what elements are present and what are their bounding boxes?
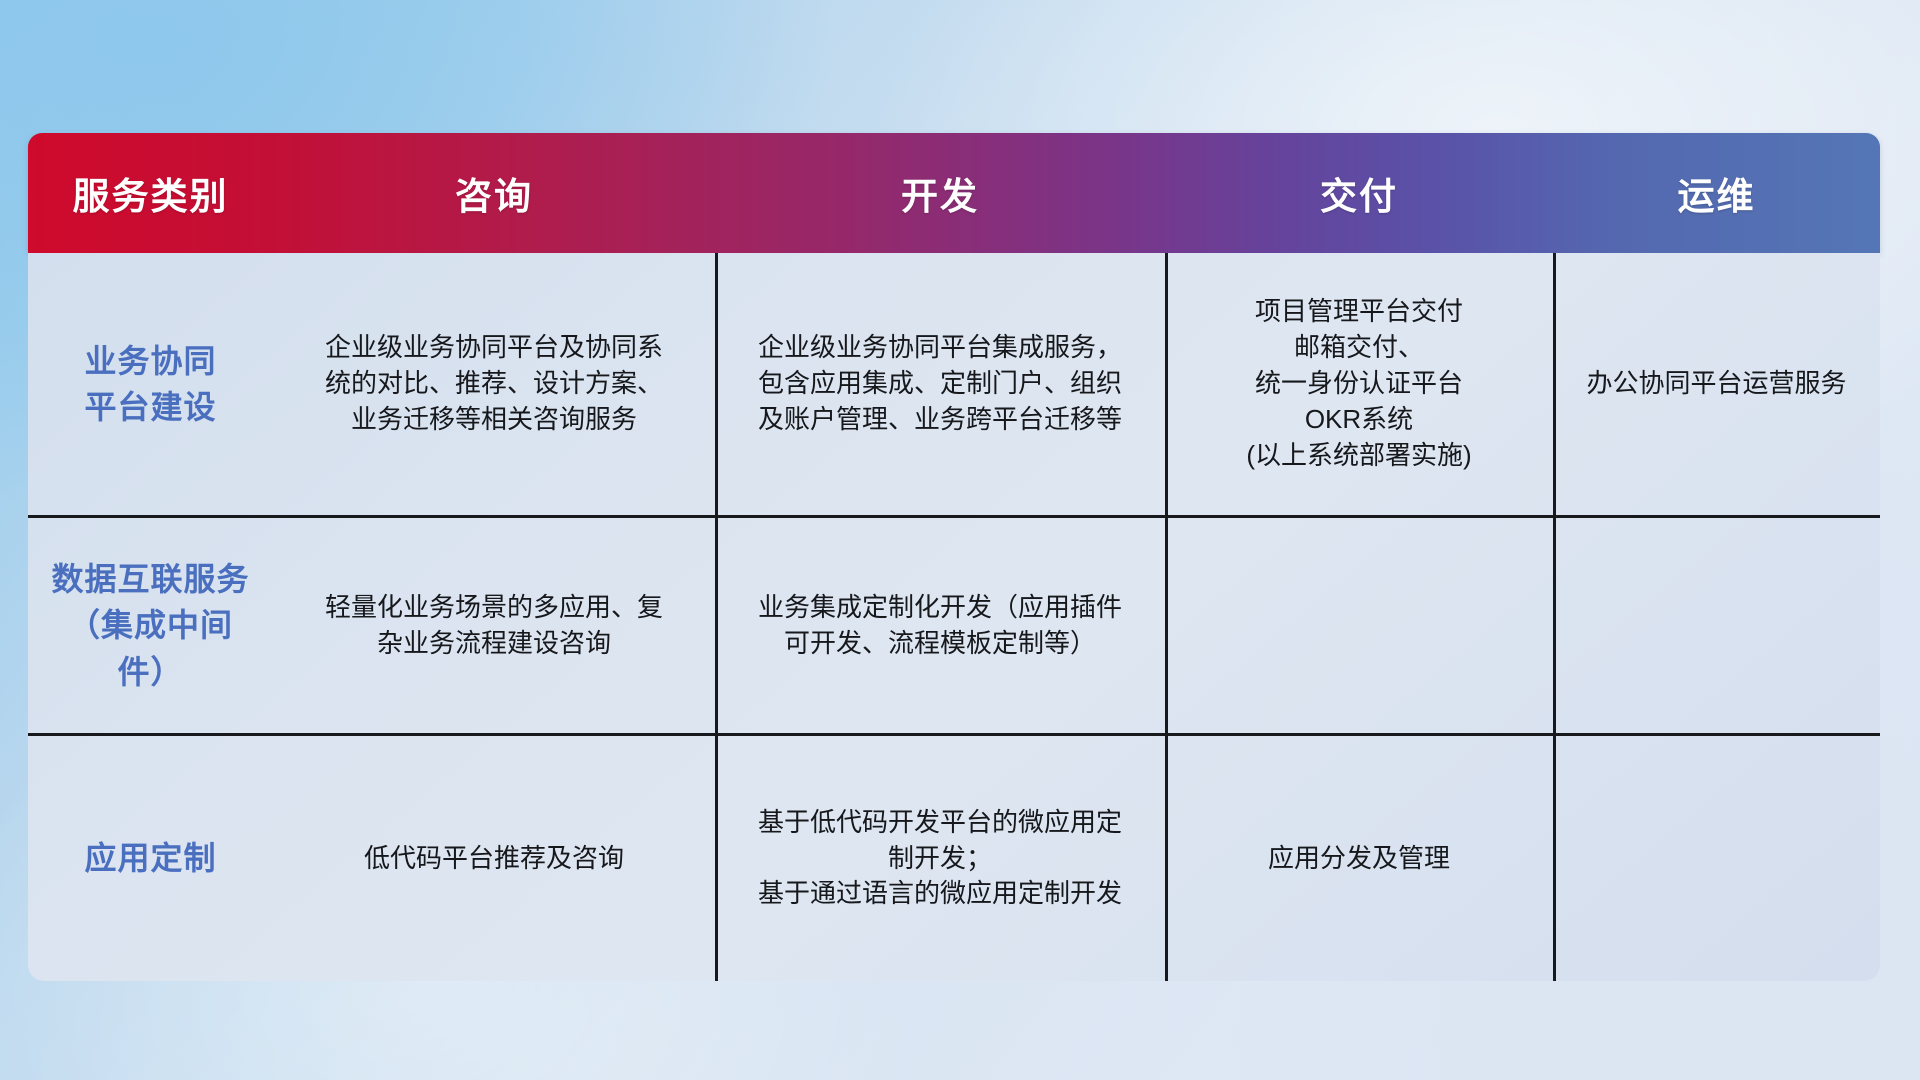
cell-delivery: 应用分发及管理 <box>1165 736 1553 981</box>
column-header-operations: 运维 <box>1553 133 1880 253</box>
cell-operations: 办公协同平台运营服务 <box>1553 253 1880 515</box>
table-row: 业务协同 平台建设 企业级业务协同平台及协同系 统的对比、推荐、设计方案、 业务… <box>28 253 1880 518</box>
cell-operations <box>1553 736 1880 981</box>
cell-development: 业务集成定制化开发（应用插件 可开发、流程模板定制等） <box>715 518 1165 733</box>
cell-operations <box>1553 518 1880 733</box>
cell-category: 数据互联服务 （集成中间件） <box>28 518 273 733</box>
table-row: 应用定制 低代码平台推荐及咨询 基于低代码开发平台的微应用定 制开发； 基于通过… <box>28 736 1880 981</box>
cell-consulting: 企业级业务协同平台及协同系 统的对比、推荐、设计方案、 业务迁移等相关咨询服务 <box>273 253 715 515</box>
slide-canvas: 服务类别 咨询 开发 交付 运维 业务协同 平台建设 企业级业务协同平台及协同系… <box>0 0 1920 1080</box>
cell-delivery <box>1165 518 1553 733</box>
table-row: 数据互联服务 （集成中间件） 轻量化业务场景的多应用、复 杂业务流程建设咨询 业… <box>28 518 1880 736</box>
table-header-row: 服务类别 咨询 开发 交付 运维 <box>28 133 1880 253</box>
column-header-category: 服务类别 <box>28 133 273 253</box>
cell-consulting: 低代码平台推荐及咨询 <box>273 736 715 981</box>
cell-development: 企业级业务协同平台集成服务， 包含应用集成、定制门户、组织 及账户管理、业务跨平… <box>715 253 1165 515</box>
cell-category: 业务协同 平台建设 <box>28 253 273 515</box>
cell-consulting: 轻量化业务场景的多应用、复 杂业务流程建设咨询 <box>273 518 715 733</box>
service-matrix-table: 服务类别 咨询 开发 交付 运维 业务协同 平台建设 企业级业务协同平台及协同系… <box>28 133 1880 981</box>
cell-delivery: 项目管理平台交付 邮箱交付、 统一身份认证平台 OKR系统 (以上系统部署实施) <box>1165 253 1553 515</box>
table-body: 业务协同 平台建设 企业级业务协同平台及协同系 统的对比、推荐、设计方案、 业务… <box>28 253 1880 981</box>
column-header-development: 开发 <box>715 133 1165 253</box>
column-header-delivery: 交付 <box>1165 133 1553 253</box>
cell-development: 基于低代码开发平台的微应用定 制开发； 基于通过语言的微应用定制开发 <box>715 736 1165 981</box>
cell-category: 应用定制 <box>28 736 273 981</box>
column-header-consulting: 咨询 <box>273 133 715 253</box>
